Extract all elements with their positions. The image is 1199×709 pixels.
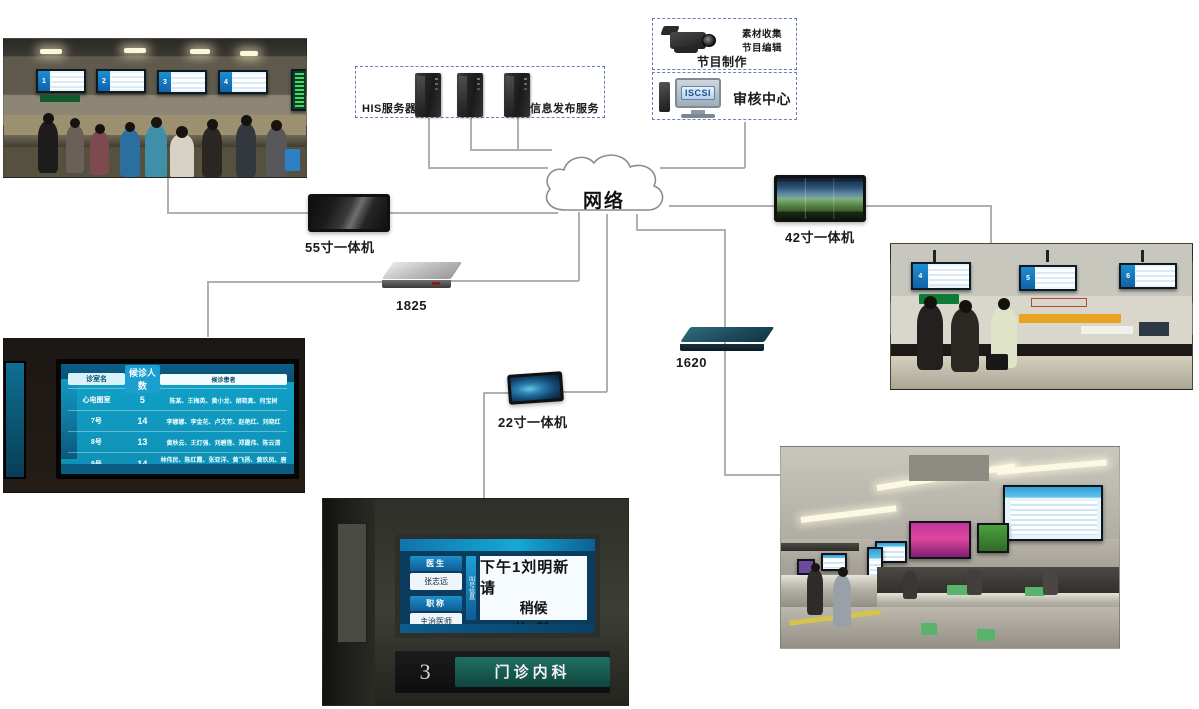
photo-registration-counter: 1 2 3 4 [3, 38, 307, 178]
display-55-label: 55寸一体机 [305, 237, 374, 256]
doctor-field-label: 医生 [410, 556, 463, 571]
queue-header-row: 诊室名 候诊人数 候诊患者 [68, 371, 287, 390]
server-tower-2 [457, 73, 483, 117]
hall-screen-main [1003, 485, 1103, 541]
wall-screen-3: 3 [157, 70, 207, 94]
wire-cloud-to-42 [669, 205, 774, 207]
publishing-server-label: 信息发布服务 [530, 100, 599, 116]
photo-pharmacy-hall [780, 446, 1120, 649]
hall-screen-green [977, 523, 1009, 553]
iscsi-monitor-icon: ISCSI [675, 78, 725, 118]
production-line2-label: 节目编辑 [742, 40, 782, 54]
review-center-label: 审核中心 [733, 89, 791, 109]
production-line1-label: 素材收集 [742, 26, 782, 40]
queue-row-patients: 陈某、王梅英、黄小龙、胡晓真、何宝树 [160, 396, 287, 405]
wire-42-to-right [866, 205, 991, 207]
wire-left-photo-up [167, 178, 169, 213]
display-42-label: 42寸一体机 [785, 227, 854, 246]
device-1825[interactable] [382, 262, 451, 288]
iscsi-badge: ISCSI [681, 86, 715, 100]
queue-row-count: 14 [125, 416, 160, 426]
queue-display-panel: 诊室名 候诊人数 候诊患者 心电图室 5 陈某、王梅英、黄小龙、胡晓真、何宝树 … [56, 359, 299, 479]
wire-cloud-to-1825-h [451, 280, 579, 282]
photo-queue-board: 诊室名 候诊人数 候诊患者 心电图室 5 陈某、王梅英、黄小龙、胡晓真、何宝树 … [3, 338, 305, 493]
call-info-strip: 叫号信息 [466, 556, 476, 620]
queue-row-count: 5 [125, 395, 160, 405]
display-42-device[interactable] [774, 175, 866, 222]
counter-screen-6: 6 [1119, 263, 1177, 289]
wall-screen-side [291, 69, 307, 111]
publishing-server-tower-3 [504, 73, 530, 117]
wire-server3-down [517, 118, 519, 150]
counter-screen-5: 5 [1019, 265, 1077, 291]
hall-screen-magenta [909, 521, 971, 559]
wire-cloud-to-55 [390, 212, 558, 214]
title-field-label: 职称 [410, 596, 463, 611]
wall-screen-4: 4 [218, 70, 268, 94]
door-sign-panel: 医生 张志远 职称 主治医师 叫号信息 下午1刘明新 请 稍候 儿 科 [395, 534, 600, 638]
wall-screen-1: 1 [36, 69, 86, 93]
queue-row-room: 心电图室 [68, 395, 125, 405]
device-1825-label: 1825 [396, 298, 427, 313]
photo-clinic-door-sign: 医生 张志远 职称 主治医师 叫号信息 下午1刘明新 请 稍候 儿 科 3 门诊… [322, 498, 629, 706]
department-name-label: 门诊内科 [455, 657, 610, 687]
wire-22-down [483, 392, 485, 502]
wire-1620-to-photo [724, 474, 780, 476]
wire-42-right-down [990, 205, 992, 243]
display-22-label: 22寸一体机 [498, 412, 567, 431]
network-cloud-label: 网络 [534, 186, 674, 213]
queue-col-patients: 候诊患者 [160, 374, 287, 385]
wire-cloud-to-22-h [560, 391, 607, 393]
display-55-device[interactable] [308, 194, 390, 232]
his-server-label: HIS服务器 [362, 100, 416, 116]
doctor-field-value: 张志远 [410, 573, 463, 590]
call-line-1: 下午1刘明新 请 [480, 556, 587, 598]
wire-1825-to-left [207, 281, 382, 283]
wire-1825-down-left [207, 281, 209, 337]
network-cloud: 网络 [534, 148, 674, 228]
queue-row-room: 7号 [68, 416, 125, 426]
call-line-2: 稍候 [520, 598, 548, 618]
wire-review-down [744, 122, 746, 168]
device-1620-label: 1620 [676, 355, 707, 370]
department-sign: 3 门诊内科 [395, 651, 610, 693]
queue-col-count: 候诊人数 [125, 365, 160, 393]
counter-screen-4: 4 [911, 262, 971, 290]
queue-row-patients: 黄秋云、王灯强、刘碧莲、郑露伟、陈云清 [160, 438, 287, 447]
wire-server1-down [428, 118, 430, 168]
wall-screen-2: 2 [96, 69, 146, 93]
queue-row-count: 13 [125, 437, 160, 447]
wire-server2-down [470, 118, 472, 150]
queue-row-3: 8号 13 黄秋云、王灯强、刘碧莲、郑露伟、陈云清 [68, 432, 287, 453]
wire-cloud-to-1620-h [636, 229, 726, 231]
device-1620[interactable] [680, 327, 764, 351]
wire-55-to-left [167, 212, 308, 214]
wire-1620-down [724, 229, 726, 475]
wire-cloud-to-22-v [606, 214, 608, 392]
call-message-area: 下午1刘明新 请 稍候 儿 科 [480, 556, 587, 620]
production-line3-label: 节目制作 [697, 53, 747, 70]
display-22-device[interactable] [507, 371, 564, 405]
room-number-label: 3 [395, 659, 455, 685]
his-server-tower-1 [415, 73, 441, 117]
queue-row-patients: 李娜娜、李金花、卢文芳、赵艳红、刘晓红 [160, 417, 287, 426]
queue-row-room: 8号 [68, 437, 125, 447]
topology-diagram-canvas: HIS服务器 信息发布服务 素材收集 节目编辑 节目制作 ISCSI 审核中心 … [0, 0, 1199, 709]
queue-row-1: 心电图室 5 陈某、王梅英、黄小龙、胡晓真、何宝树 [68, 390, 287, 411]
queue-col-room: 诊室名 [68, 373, 125, 385]
queue-row-2: 7号 14 李娜娜、李金花、卢文芳、赵艳红、刘晓红 [68, 411, 287, 432]
wire-server1-bus [428, 167, 548, 169]
photo-service-counter: 4 5 6 [890, 243, 1193, 390]
